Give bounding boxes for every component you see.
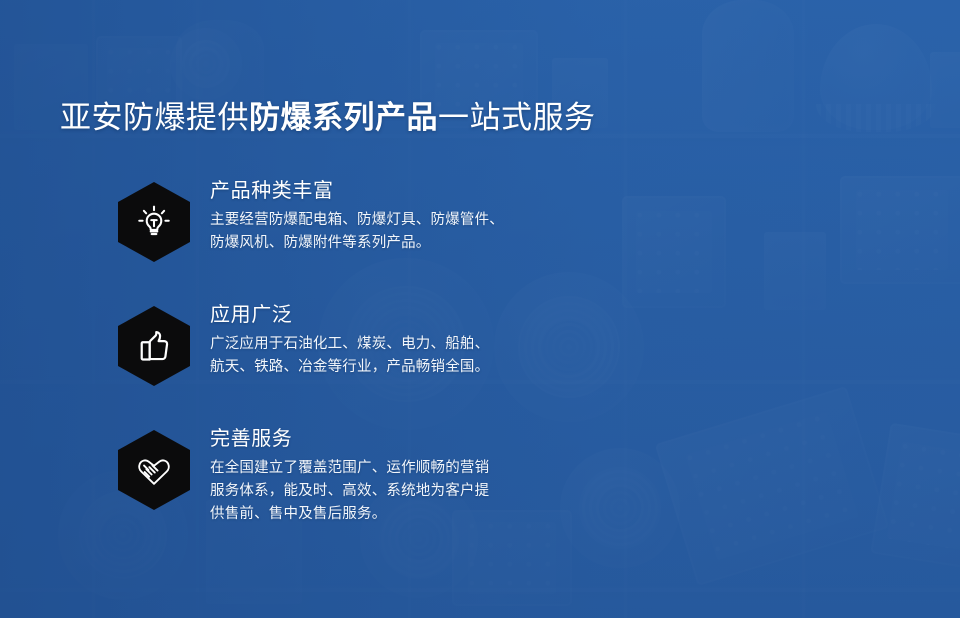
feature-description-line: 供售前、售中及售后服务。 xyxy=(210,503,588,526)
feature-description-line: 航天、铁路、冶金等行业，产品畅销全国。 xyxy=(210,356,588,379)
thumbs-up-icon xyxy=(118,306,190,386)
lightbulb-icon xyxy=(118,182,190,262)
feature-list: 产品种类丰富 主要经营防爆配电箱、防爆灯具、防爆管件、 防爆风机、防爆附件等系列… xyxy=(118,178,588,526)
feature-description-line: 防爆风机、防爆附件等系列产品。 xyxy=(210,232,588,255)
feature-item-complete-service: 完善服务 在全国建立了覆盖范围广、运作顺畅的营销 服务体系，能及时、高效、系统地… xyxy=(118,426,588,526)
feature-title: 完善服务 xyxy=(210,426,588,452)
feature-description: 在全国建立了覆盖范围广、运作顺畅的营销 服务体系，能及时、高效、系统地为客户提 … xyxy=(210,457,588,526)
banner-content: 亚安防爆提供防爆系列产品一站式服务 xyxy=(0,0,960,618)
promo-banner: 亚安防爆提供防爆系列产品一站式服务 xyxy=(0,0,960,618)
headline-lead: 亚安防爆提供 xyxy=(60,100,249,135)
feature-item-wide-application: 应用广泛 广泛应用于石油化工、煤炭、电力、船舶、 航天、铁路、冶金等行业，产品畅… xyxy=(118,302,588,394)
feature-item-product-variety: 产品种类丰富 主要经营防爆配电箱、防爆灯具、防爆管件、 防爆风机、防爆附件等系列… xyxy=(118,178,588,270)
feature-description-line: 在全国建立了覆盖范围广、运作顺畅的营销 xyxy=(210,457,588,480)
feature-description-line: 广泛应用于石油化工、煤炭、电力、船舶、 xyxy=(210,333,588,356)
feature-description: 主要经营防爆配电箱、防爆灯具、防爆管件、 防爆风机、防爆附件等系列产品。 xyxy=(210,209,588,255)
feature-description-line: 服务体系，能及时、高效、系统地为客户提 xyxy=(210,480,588,503)
feature-description-line: 主要经营防爆配电箱、防爆灯具、防爆管件、 xyxy=(210,209,588,232)
feature-title: 应用广泛 xyxy=(210,302,588,328)
page-title: 亚安防爆提供防爆系列产品一站式服务 xyxy=(60,98,596,138)
feature-description: 广泛应用于石油化工、煤炭、电力、船舶、 航天、铁路、冶金等行业，产品畅销全国。 xyxy=(210,333,588,379)
handshake-heart-icon xyxy=(118,430,190,510)
headline-emphasis: 防爆系列产品 xyxy=(249,100,438,135)
headline-trail: 一站式服务 xyxy=(438,100,596,135)
feature-title: 产品种类丰富 xyxy=(210,178,588,204)
